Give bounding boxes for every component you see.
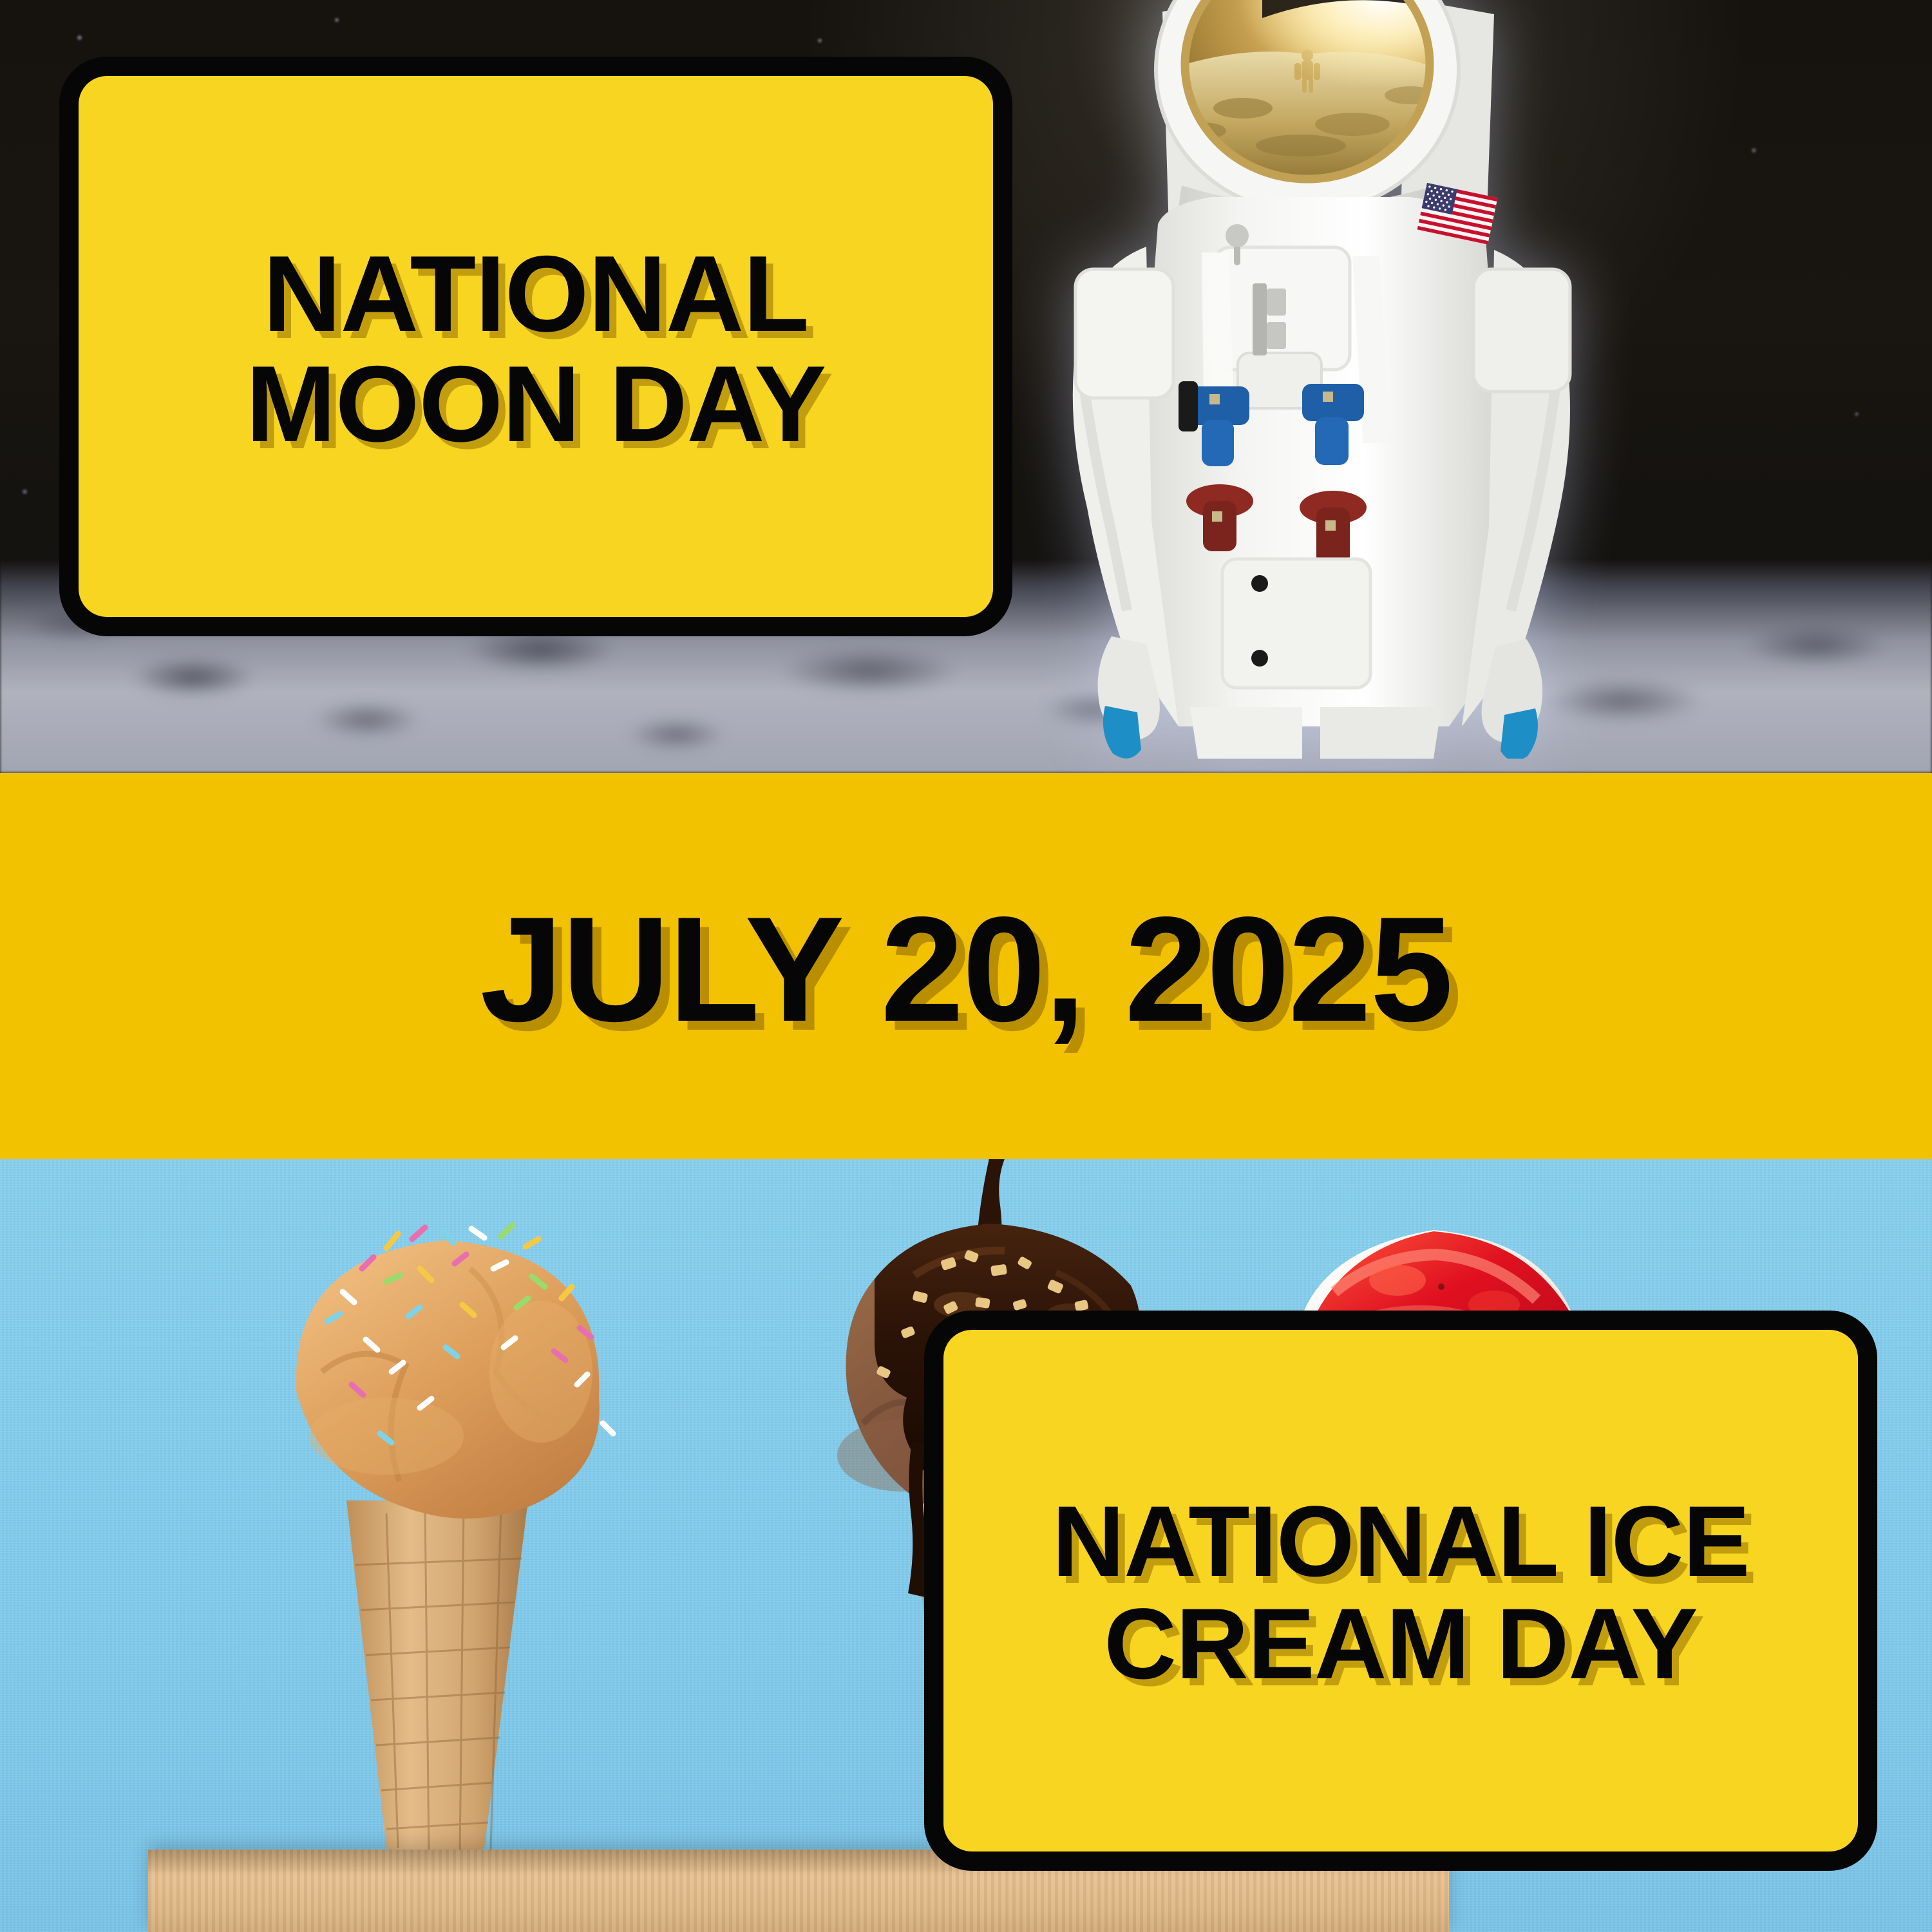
star-icon: [1752, 148, 1756, 153]
star-icon: [1855, 412, 1859, 416]
date-band: JULY 20, 2025: [0, 773, 1932, 1159]
sign-moon-day-line-2: MOON DAY: [246, 349, 826, 459]
event-date-text: JULY 20, 2025: [480, 895, 1452, 1045]
star-icon: [335, 18, 339, 22]
sign-national-moon-day[interactable]: NATIONAL MOON DAY: [59, 57, 1012, 636]
poster-canvas: NATIONAL MOON DAY JULY 20, 2025: [0, 0, 1932, 1932]
sign-moon-day-text: NATIONAL MOON DAY: [246, 239, 826, 460]
ice-cream-cone-caramel: [193, 1179, 696, 1874]
star-icon: [23, 489, 27, 494]
sign-moon-day-line-1: NATIONAL: [246, 239, 826, 349]
moon-scene-panel: NATIONAL MOON DAY: [0, 0, 1932, 773]
star-icon: [77, 35, 82, 40]
sign-ice-cream-day-line-1: NATIONAL ICE: [1052, 1491, 1750, 1593]
sign-ice-cream-day-line-2: CREAM DAY: [1052, 1593, 1750, 1696]
sign-ice-cream-day-text: NATIONAL ICE CREAM DAY: [1052, 1491, 1750, 1696]
star-icon: [818, 39, 822, 43]
astronaut-figure: [1050, 0, 1604, 759]
sign-national-ice-cream-day-visible[interactable]: NATIONAL ICE CREAM DAY: [924, 1311, 1877, 1871]
